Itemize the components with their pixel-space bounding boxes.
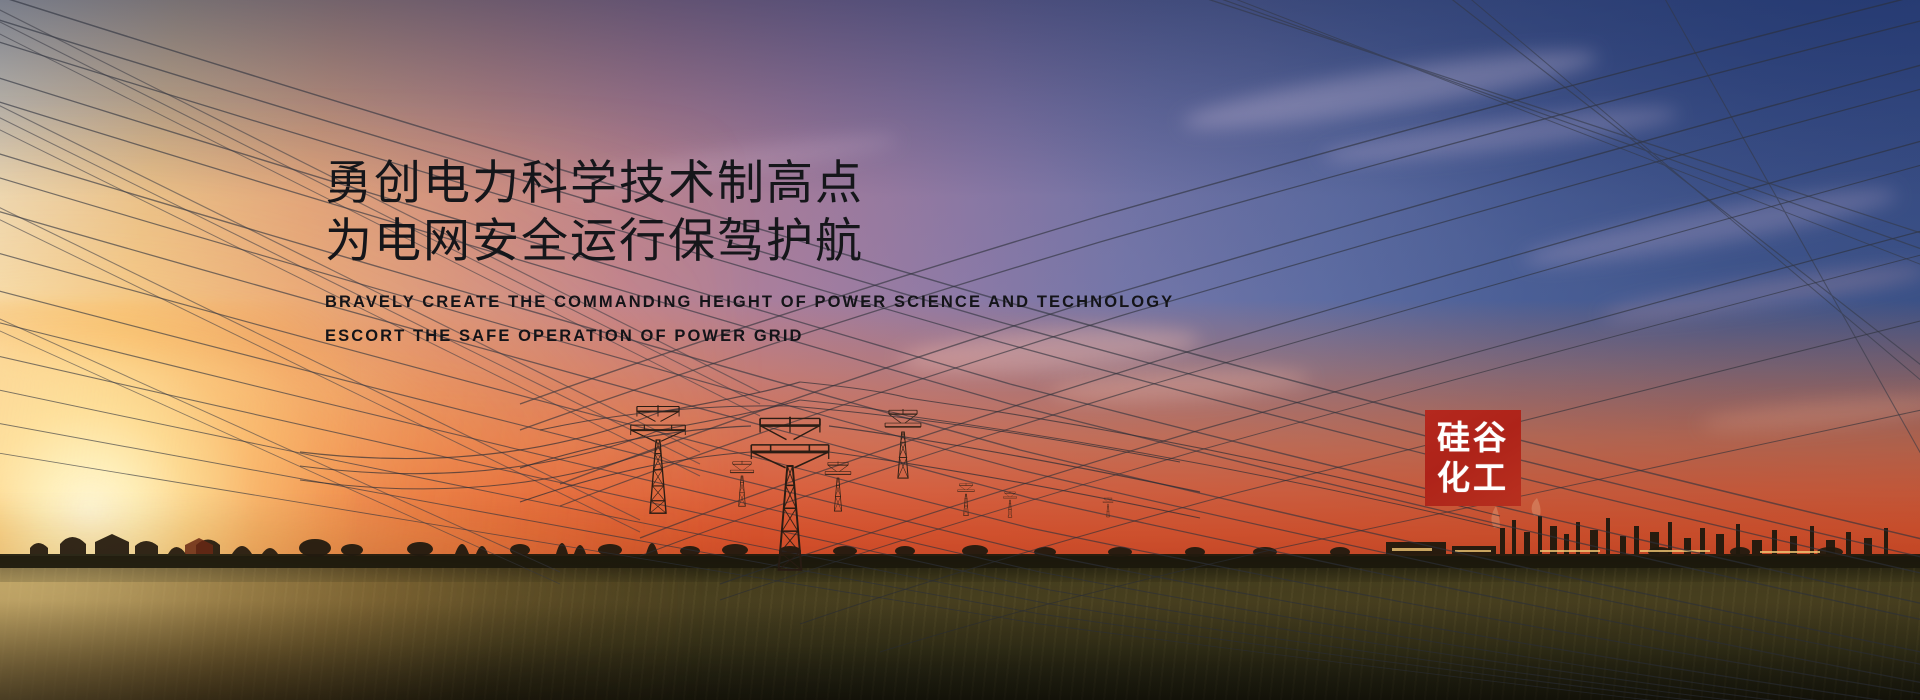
company-logo-stamp[interactable]: 硅谷 化工 <box>1425 410 1521 506</box>
transmission-tower-far-b <box>1003 491 1016 517</box>
logo-text-line-1: 硅谷 <box>1437 418 1509 458</box>
headline-block: 勇创电力科学技术制高点 为电网安全运行保驾护航 BRAVELY CREATE T… <box>325 155 1325 353</box>
headline-english-line-2: ESCORT THE SAFE OPERATION OF POWER GRID <box>325 319 1325 353</box>
headline-english-line-1: BRAVELY CREATE THE COMMANDING HEIGHT OF … <box>325 285 1325 319</box>
headline-chinese-line-1: 勇创电力科学技术制高点 <box>325 155 1325 213</box>
headline-chinese-line-2: 为电网安全运行保驾护航 <box>325 213 1325 271</box>
logo-text-line-2: 化工 <box>1437 458 1509 498</box>
hero-banner: 勇创电力科学技术制高点 为电网安全运行保驾护航 BRAVELY CREATE T… <box>0 0 1920 700</box>
